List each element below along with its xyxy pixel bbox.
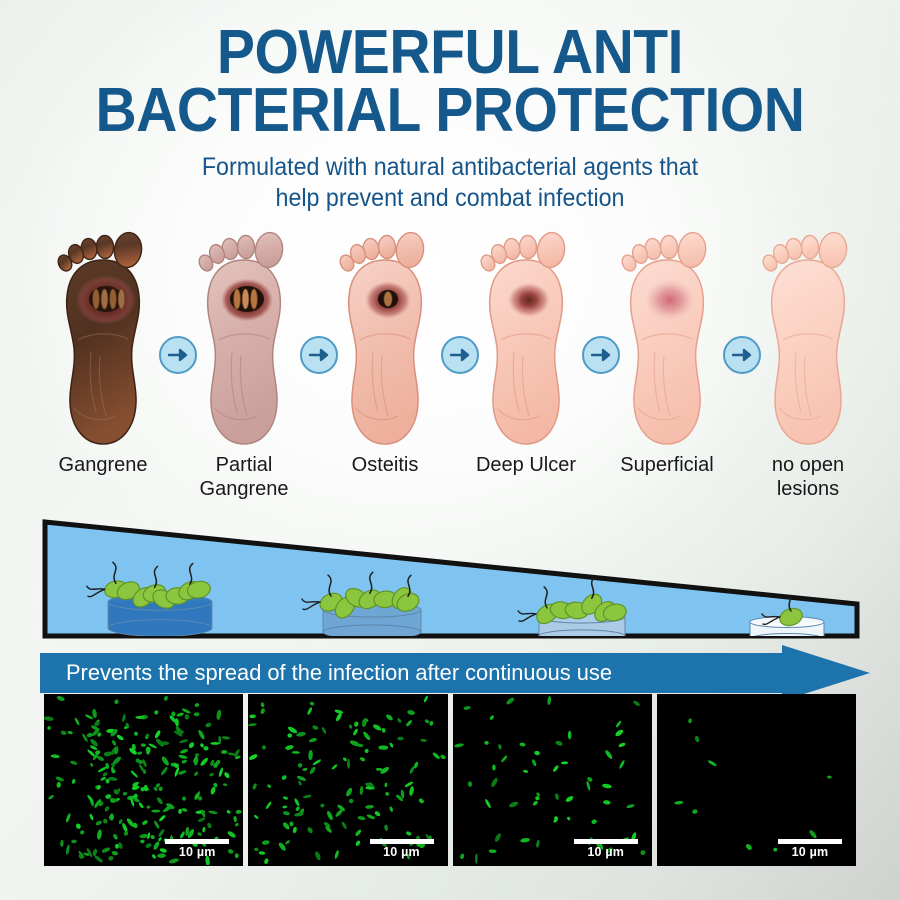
- foot-necrotic-core: [230, 286, 264, 312]
- microscopy-panel-1[interactable]: 10 µm: [44, 694, 243, 866]
- foot-stage-partial-gangrene[interactable]: PartialGangrene: [169, 222, 319, 522]
- foot-label-line-1: Osteitis: [310, 454, 460, 478]
- page-subtitle: Formulated with natural antibacterial ag…: [0, 152, 900, 213]
- scale-bar-label: 10 µm: [160, 845, 234, 859]
- foot-illustration-superficial: [608, 222, 726, 454]
- microscopy-panel-row: 10 µm10 µm10 µm10 µm: [44, 694, 856, 866]
- title-line-2: BACTERIAL PROTECTION: [36, 82, 864, 140]
- foot-toe-2: [801, 235, 819, 259]
- microscopy-panel-4[interactable]: 10 µm: [657, 694, 856, 866]
- scale-bar: 10 µm: [160, 839, 234, 859]
- foot-toe-2: [660, 235, 678, 259]
- foot-illustration-gangrene: [44, 222, 162, 454]
- foot-lesion: [508, 283, 550, 317]
- foot-label-line-1: Deep Ulcer: [451, 454, 601, 478]
- foot-toe-2: [519, 235, 537, 259]
- microscopy-panel-3[interactable]: 10 µm: [453, 694, 652, 866]
- foot-label-line-1: no open: [733, 454, 883, 478]
- scale-bar-label: 10 µm: [773, 845, 847, 859]
- scale-bar-line: [370, 839, 434, 844]
- foot-label-line-1: Gangrene: [28, 454, 178, 478]
- scale-bar: 10 µm: [773, 839, 847, 859]
- foot-illustration-osteitis: [326, 222, 444, 454]
- scale-bar-line: [165, 839, 229, 844]
- foot-stage-superficial[interactable]: Superficial: [592, 222, 742, 522]
- foot-stage-deep-ulcer[interactable]: Deep Ulcer: [451, 222, 601, 522]
- subtitle-line-1: Formulated with natural antibacterial ag…: [32, 152, 869, 183]
- foot-stage-gangrene[interactable]: Gangrene: [28, 222, 178, 522]
- foot-progression-row: GangrenePartialGangreneOsteitisDeep Ulce…: [0, 222, 900, 522]
- foot-label-line-2: lesions: [733, 478, 883, 502]
- foot-illustration-partial-gangrene: [185, 222, 303, 454]
- biofilm-wedge-svg: [42, 518, 860, 640]
- microscopy-panel-2[interactable]: 10 µm: [248, 694, 447, 866]
- foot-label-line-2: Gangrene: [169, 478, 319, 502]
- page-title: POWERFUL ANTI BACTERIAL PROTECTION: [0, 24, 900, 139]
- scale-bar-label: 10 µm: [365, 845, 439, 859]
- foot-toe-2: [96, 235, 114, 259]
- poster-root: POWERFUL ANTI BACTERIAL PROTECTION Formu…: [0, 0, 900, 900]
- title-line-1: POWERFUL ANTI: [36, 24, 864, 82]
- scale-bar-label: 10 µm: [569, 845, 643, 859]
- scale-bar: 10 µm: [365, 839, 439, 859]
- foot-necrotic-core: [378, 290, 398, 308]
- foot-lesion: [645, 280, 695, 321]
- biofilm-wedge-diagram: [42, 518, 860, 640]
- foot-label-gangrene: Gangrene: [28, 454, 178, 478]
- gangrene-overlay: [67, 260, 140, 444]
- foot-label-osteitis: Osteitis: [310, 454, 460, 478]
- foot-label-superficial: Superficial: [592, 454, 742, 478]
- foot-label-deep-ulcer: Deep Ulcer: [451, 454, 601, 478]
- foot-label-line-1: Partial: [169, 454, 319, 478]
- foot-toe-2: [237, 235, 255, 259]
- scale-bar: 10 µm: [569, 839, 643, 859]
- scale-bar-line: [778, 839, 842, 844]
- foot-sole: [772, 260, 845, 444]
- banner-text: Prevents the spread of the infection aft…: [66, 645, 612, 701]
- prevention-banner: Prevents the spread of the infection aft…: [40, 645, 870, 701]
- foot-label-partial-gangrene: PartialGangrene: [169, 454, 319, 501]
- foot-stage-osteitis[interactable]: Osteitis: [310, 222, 460, 522]
- foot-illustration-deep-ulcer: [467, 222, 585, 454]
- foot-illustration-no-open-lesions: [749, 222, 867, 454]
- foot-label-no-open-lesions: no openlesions: [733, 454, 883, 501]
- scale-bar-line: [574, 839, 638, 844]
- foot-label-line-1: Superficial: [592, 454, 742, 478]
- foot-stage-no-open-lesions[interactable]: no openlesions: [733, 222, 883, 522]
- foot-toe-2: [378, 235, 396, 259]
- subtitle-line-2: help prevent and combat infection: [32, 183, 869, 214]
